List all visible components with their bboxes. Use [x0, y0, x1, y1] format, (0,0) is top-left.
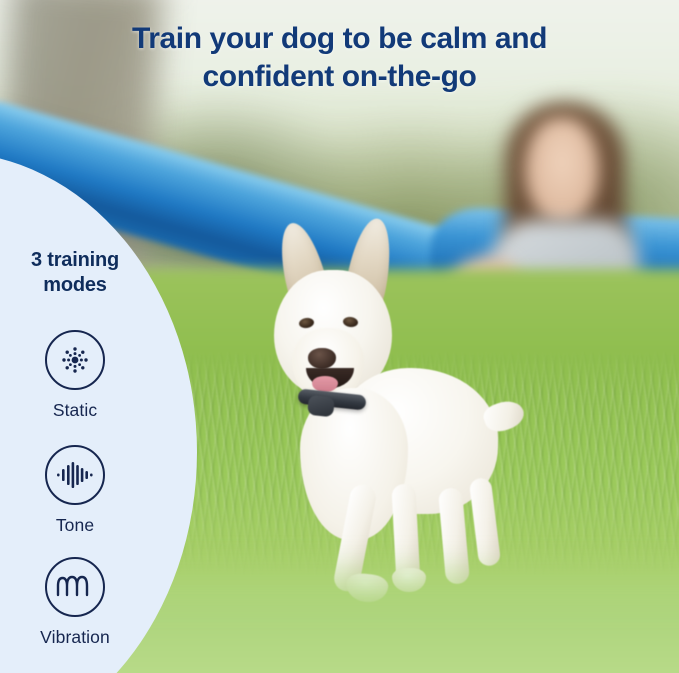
training-mode-label-static: Static	[0, 400, 150, 421]
training-mode-label-tone: Tone	[0, 515, 150, 536]
headline-line-2: confident on-the-go	[0, 58, 679, 96]
panel-title-line-1: 3 training	[31, 249, 119, 271]
dog-collar-receiver	[307, 395, 335, 418]
panel-title: 3 training modes	[0, 248, 150, 298]
training-mode-tone: Tone	[0, 445, 150, 536]
vibration-wave-icon	[45, 557, 105, 617]
feature-image: Train your dog to be calm and confident …	[0, 0, 679, 673]
training-mode-label-vibration: Vibration	[0, 627, 150, 648]
tone-sound-wave-icon	[45, 445, 105, 505]
static-radiating-dots-icon	[45, 330, 105, 390]
person-face	[525, 118, 599, 222]
training-mode-static: Static	[0, 330, 150, 421]
training-modes-panel: 3 training modes	[0, 152, 197, 673]
headline-line-1: Train your dog to be calm and	[132, 22, 547, 55]
page-title: Train your dog to be calm and confident …	[0, 20, 679, 96]
training-mode-vibration: Vibration	[0, 557, 150, 648]
dog-nose	[308, 348, 336, 369]
panel-title-line-2: modes	[43, 274, 106, 296]
training-modes-content: 3 training modes	[0, 152, 180, 673]
